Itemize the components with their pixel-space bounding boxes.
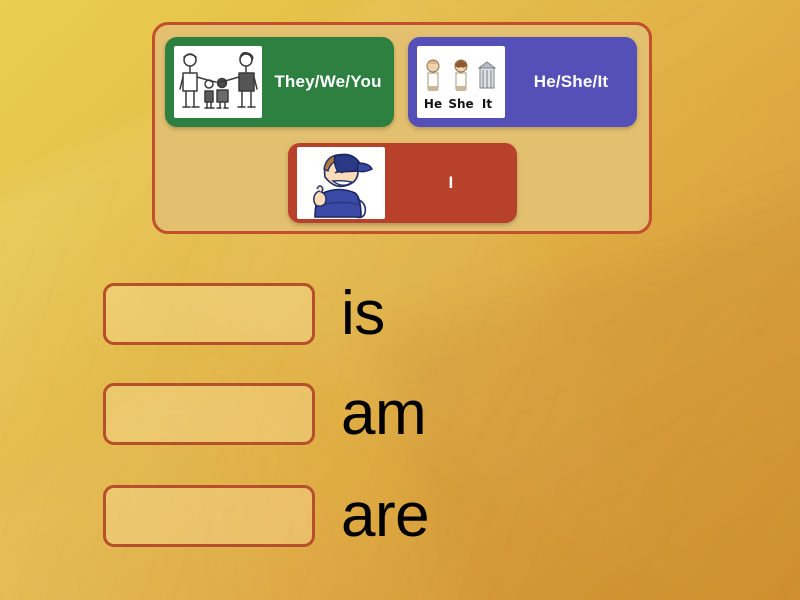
tile-label: He/She/It [505, 72, 637, 92]
background-streak [372, 181, 800, 600]
svg-text:He: He [424, 97, 442, 111]
tile-they-we-you[interactable]: They/We/You [165, 37, 394, 127]
drop-zone-am[interactable] [103, 383, 315, 445]
tile-label: They/We/You [262, 72, 394, 92]
answer-word: am [341, 385, 426, 444]
he-she-it-figures-icon: He She [417, 46, 505, 118]
tile-tray: They/We/You He [152, 22, 652, 234]
activity-stage: They/We/You He [0, 0, 800, 600]
answer-row-are: are [103, 485, 429, 547]
svg-text:She: She [448, 97, 473, 111]
answer-row-is: is [103, 283, 385, 345]
answer-word: are [341, 487, 429, 546]
tile-label: I [385, 173, 517, 193]
tile-i[interactable]: I [288, 143, 517, 223]
tile-he-she-it[interactable]: He She [408, 37, 637, 127]
background-streak [0, 335, 408, 600]
boy-pointing-at-self-icon [297, 147, 385, 219]
answer-word: is [341, 285, 385, 344]
answer-row-am: am [103, 383, 426, 445]
drop-zone-is[interactable] [103, 283, 315, 345]
svg-text:It: It [482, 97, 492, 111]
people-pointing-icon [174, 46, 262, 118]
drop-zone-are[interactable] [103, 485, 315, 547]
